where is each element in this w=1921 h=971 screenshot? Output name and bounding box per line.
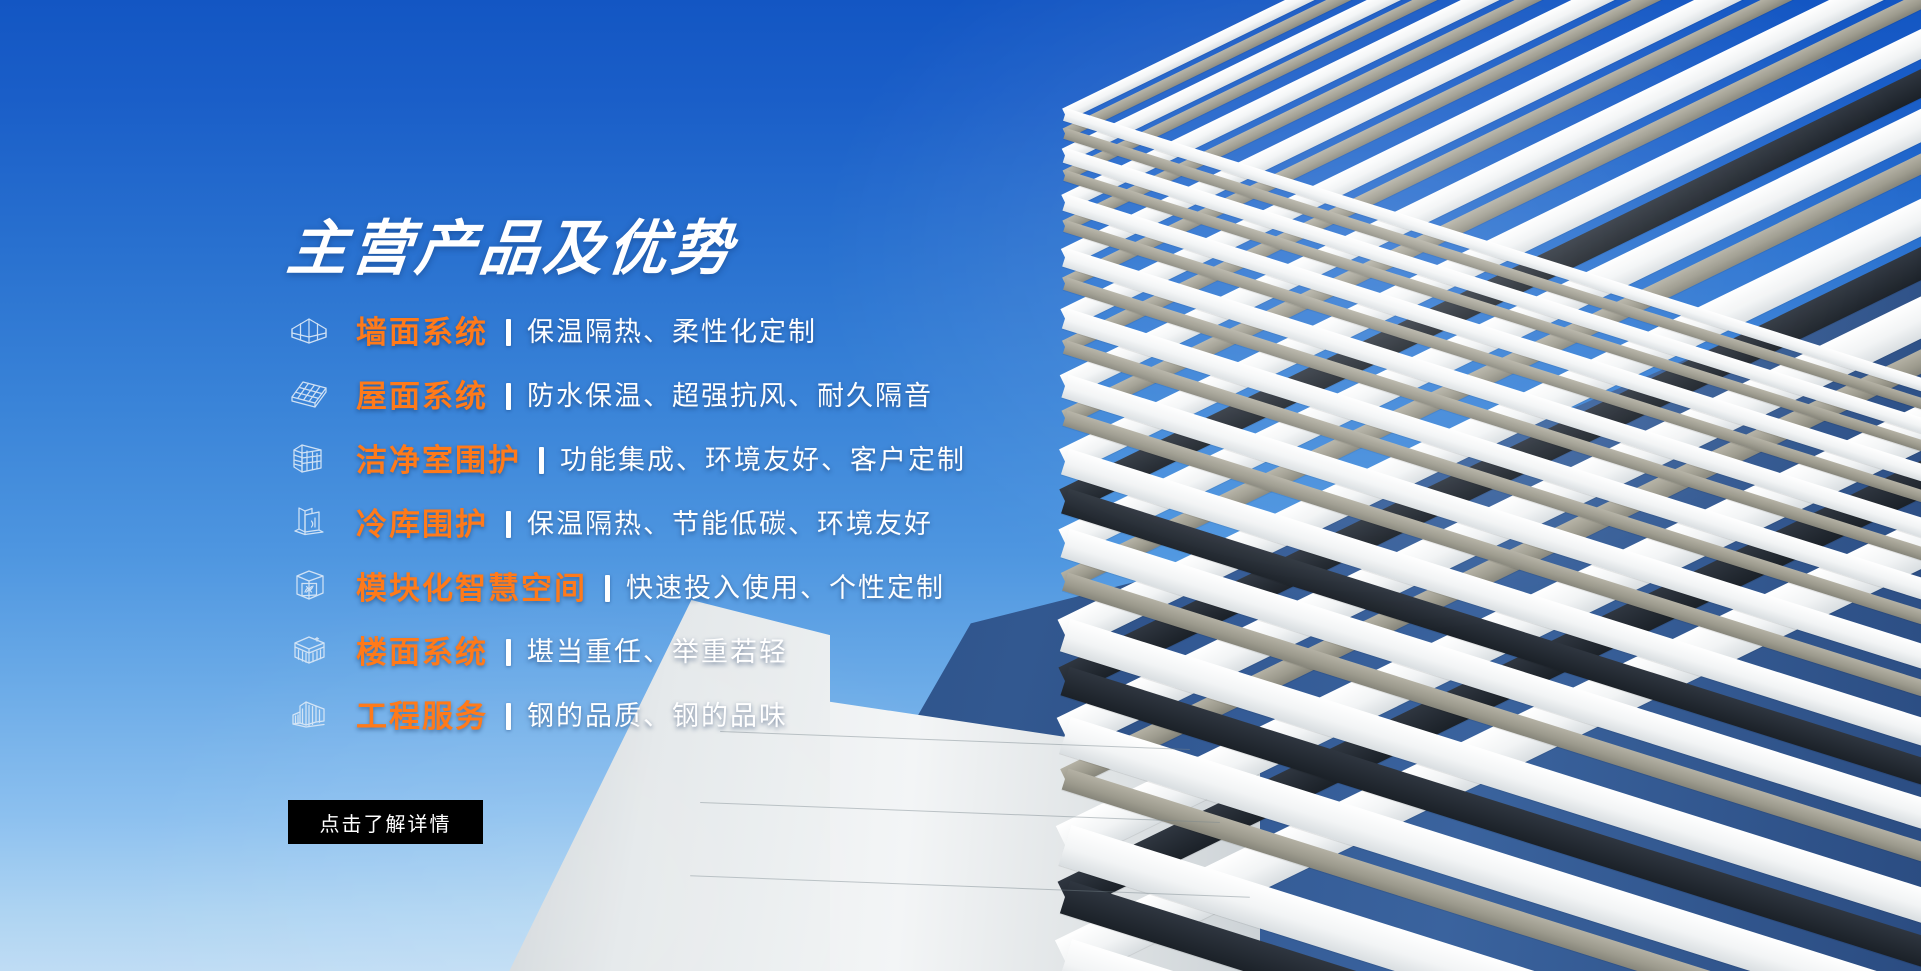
separator-bar: [506, 639, 511, 666]
separator-bar: [539, 447, 544, 474]
learn-more-button[interactable]: 点击了解详情: [288, 800, 483, 844]
separator-bar: [506, 511, 511, 538]
product-name: 冷库围护: [356, 499, 488, 544]
separator-bar: [605, 575, 610, 602]
separator-bar: [506, 319, 511, 346]
product-item[interactable]: 工程服务钢的品质、钢的品味: [288, 689, 966, 737]
wall-frame-icon: [288, 308, 330, 350]
product-advantage-banner: 主营产品及优势 墙面系统保温隔热、柔性化定制 屋面系统防水保温、超强抗风、耐久隔…: [0, 0, 1921, 971]
product-description: 堪当重任、举重若轻: [527, 630, 788, 669]
product-name: 楼面系统: [356, 627, 488, 672]
product-description: 功能集成、环境友好、客户定制: [560, 438, 966, 477]
cleanroom-building-icon: [288, 436, 330, 478]
product-item[interactable]: 屋面系统防水保温、超强抗风、耐久隔音: [288, 369, 966, 417]
product-description: 保温隔热、柔性化定制: [527, 310, 817, 349]
product-item[interactable]: 墙面系统保温隔热、柔性化定制: [288, 305, 966, 353]
product-item[interactable]: 洁净室围护功能集成、环境友好、客户定制: [288, 433, 966, 481]
cold-storage-icon: [288, 500, 330, 542]
product-list: 墙面系统保温隔热、柔性化定制 屋面系统防水保温、超强抗风、耐久隔音 洁净室围护功…: [288, 305, 966, 753]
product-name: 工程服务: [356, 691, 488, 736]
banner-content: 主营产品及优势 墙面系统保温隔热、柔性化定制 屋面系统防水保温、超强抗风、耐久隔…: [0, 0, 1921, 971]
product-name: 墙面系统: [356, 307, 488, 352]
product-description: 快速投入使用、个性定制: [626, 566, 945, 605]
product-item[interactable]: 楼面系统堪当重任、举重若轻: [288, 625, 966, 673]
product-name: 屋面系统: [356, 371, 488, 416]
product-name: 模块化智慧空间: [356, 563, 587, 608]
floor-deck-icon: [288, 628, 330, 670]
modular-cube-icon: [288, 564, 330, 606]
separator-bar: [506, 383, 511, 410]
product-description: 防水保温、超强抗风、耐久隔音: [527, 374, 933, 413]
product-name: 洁净室围护: [356, 435, 521, 480]
roof-panel-icon: [288, 372, 330, 414]
product-item[interactable]: 模块化智慧空间快速投入使用、个性定制: [288, 561, 966, 609]
separator-bar: [506, 703, 511, 730]
product-description: 钢的品质、钢的品味: [527, 694, 788, 733]
product-description: 保温隔热、节能低碳、环境友好: [527, 502, 933, 541]
product-item[interactable]: 冷库围护保温隔热、节能低碳、环境友好: [288, 497, 966, 545]
page-title: 主营产品及优势: [283, 200, 740, 287]
engineering-service-icon: [288, 692, 330, 734]
